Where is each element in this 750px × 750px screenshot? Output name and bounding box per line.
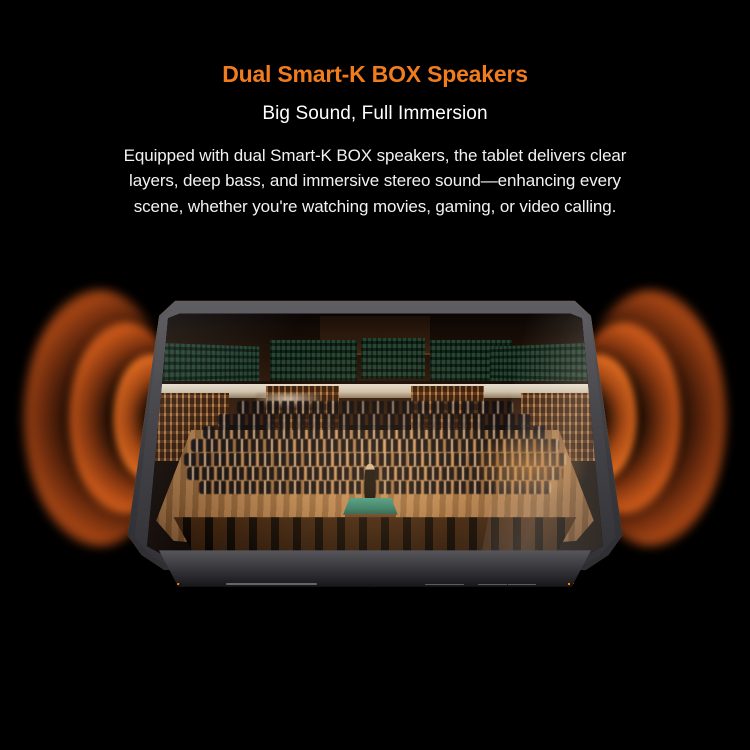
stage-front-face (161, 517, 589, 556)
musician-row (218, 414, 532, 427)
power-button[interactable] (425, 584, 463, 585)
volume-button[interactable] (478, 584, 536, 585)
speaker-grille-right-icon (568, 583, 598, 585)
page-title: Dual Smart-K BOX Speakers (0, 62, 750, 87)
tablet-screen[interactable] (147, 313, 603, 556)
musician-row (237, 401, 513, 414)
device-bottom-edge: SIM CARD (135, 550, 615, 586)
promo-text-block: Dual Smart-K BOX Speakers Big Sound, Ful… (0, 0, 750, 219)
seating-tier-center (361, 338, 425, 379)
sim-card-tray[interactable]: SIM CARD (226, 583, 317, 585)
concert-hall-scene (147, 313, 603, 556)
page-subtitle: Big Sound, Full Immersion (0, 103, 750, 125)
tablet-device: SIM CARD (124, 258, 626, 588)
description-line-2: layers, deep bass, and immersive stereo … (75, 168, 675, 193)
seating-tier-center-left (270, 340, 357, 381)
description-line-1: Equipped with dual Smart-K BOX speakers,… (75, 143, 675, 168)
conductor (365, 464, 376, 498)
description-paragraph: Equipped with dual Smart-K BOX speakers,… (75, 143, 675, 218)
conductor-podium (343, 498, 398, 515)
hero-illustration: SIM CARD (0, 238, 750, 598)
speaker-grille-left-icon (152, 583, 182, 585)
description-line-3: scene, whether you're watching movies, g… (75, 194, 675, 219)
double-bass-section (471, 430, 590, 503)
